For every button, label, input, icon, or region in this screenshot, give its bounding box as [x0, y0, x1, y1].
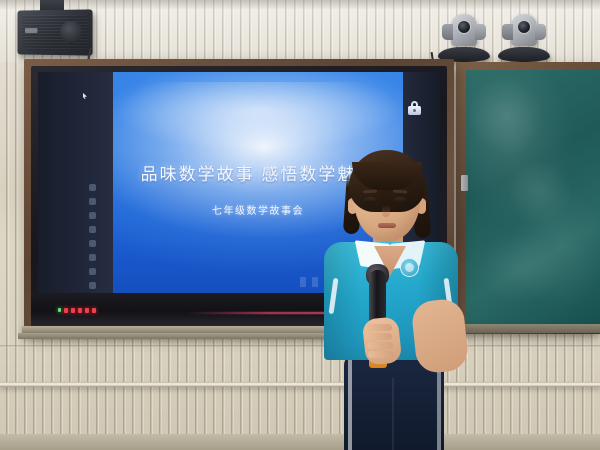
finger-4 [368, 351, 394, 358]
toolbar-icon-3[interactable] [89, 212, 96, 219]
camera-arm-right [475, 24, 486, 40]
screen-letterbox-left [38, 72, 113, 293]
toolbar-icon-6[interactable] [89, 254, 96, 261]
classroom-photo: 品味数学故事 感悟数学魅力 七年级数学故事会 Hisense HiVision [0, 0, 600, 450]
mouth [378, 223, 396, 228]
chalk-residue [466, 70, 600, 324]
pants-side-stripe-left [348, 355, 352, 450]
toolbar-icon-8[interactable] [89, 282, 96, 289]
finger-3 [367, 342, 393, 349]
eye-left [364, 197, 376, 203]
wall-rail [0, 382, 600, 387]
indicator-led-1 [64, 308, 68, 313]
pants-seam [392, 378, 394, 450]
school-emblem-badge [400, 258, 419, 277]
nose [382, 205, 390, 217]
student-presenter [318, 150, 468, 450]
chalkboard-tray [452, 324, 600, 333]
finger-1 [366, 324, 392, 331]
camera-arm-left [442, 24, 453, 40]
indicator-led-5 [92, 308, 96, 313]
wall-baseboard [0, 434, 600, 450]
camera-lens [457, 20, 471, 34]
whiteboard-toolbar[interactable] [86, 184, 99, 293]
finger-2 [366, 333, 392, 340]
toolbar-icon-1[interactable] [89, 184, 96, 191]
camera-arm-right [535, 24, 546, 40]
ptz-camera-left [438, 12, 490, 62]
lock-keyhole [413, 109, 416, 112]
camera-lens [517, 20, 531, 34]
power-led [58, 308, 61, 312]
speaker-brand-plate [25, 28, 37, 33]
camera-base [498, 47, 550, 62]
speaker-cone [60, 21, 82, 43]
wall-panel-seam [0, 345, 600, 348]
toolbar-icon-4[interactable] [89, 226, 96, 233]
indicator-led-3 [78, 308, 82, 313]
eye-right [394, 197, 406, 203]
toolbar-icon-5[interactable] [89, 240, 96, 247]
presenter-arm [410, 297, 469, 374]
wall-speaker [17, 9, 92, 55]
camera-arm-left [502, 24, 513, 40]
toolbar-icon-7[interactable] [89, 268, 96, 275]
indicator-led-2 [71, 308, 75, 313]
toolbar-icon-2[interactable] [89, 198, 96, 205]
ptz-camera-right [498, 12, 550, 62]
badge-inner [405, 263, 414, 272]
display-status-leds [58, 307, 96, 313]
lock-icon[interactable] [408, 101, 421, 115]
indicator-led-4 [85, 308, 89, 313]
